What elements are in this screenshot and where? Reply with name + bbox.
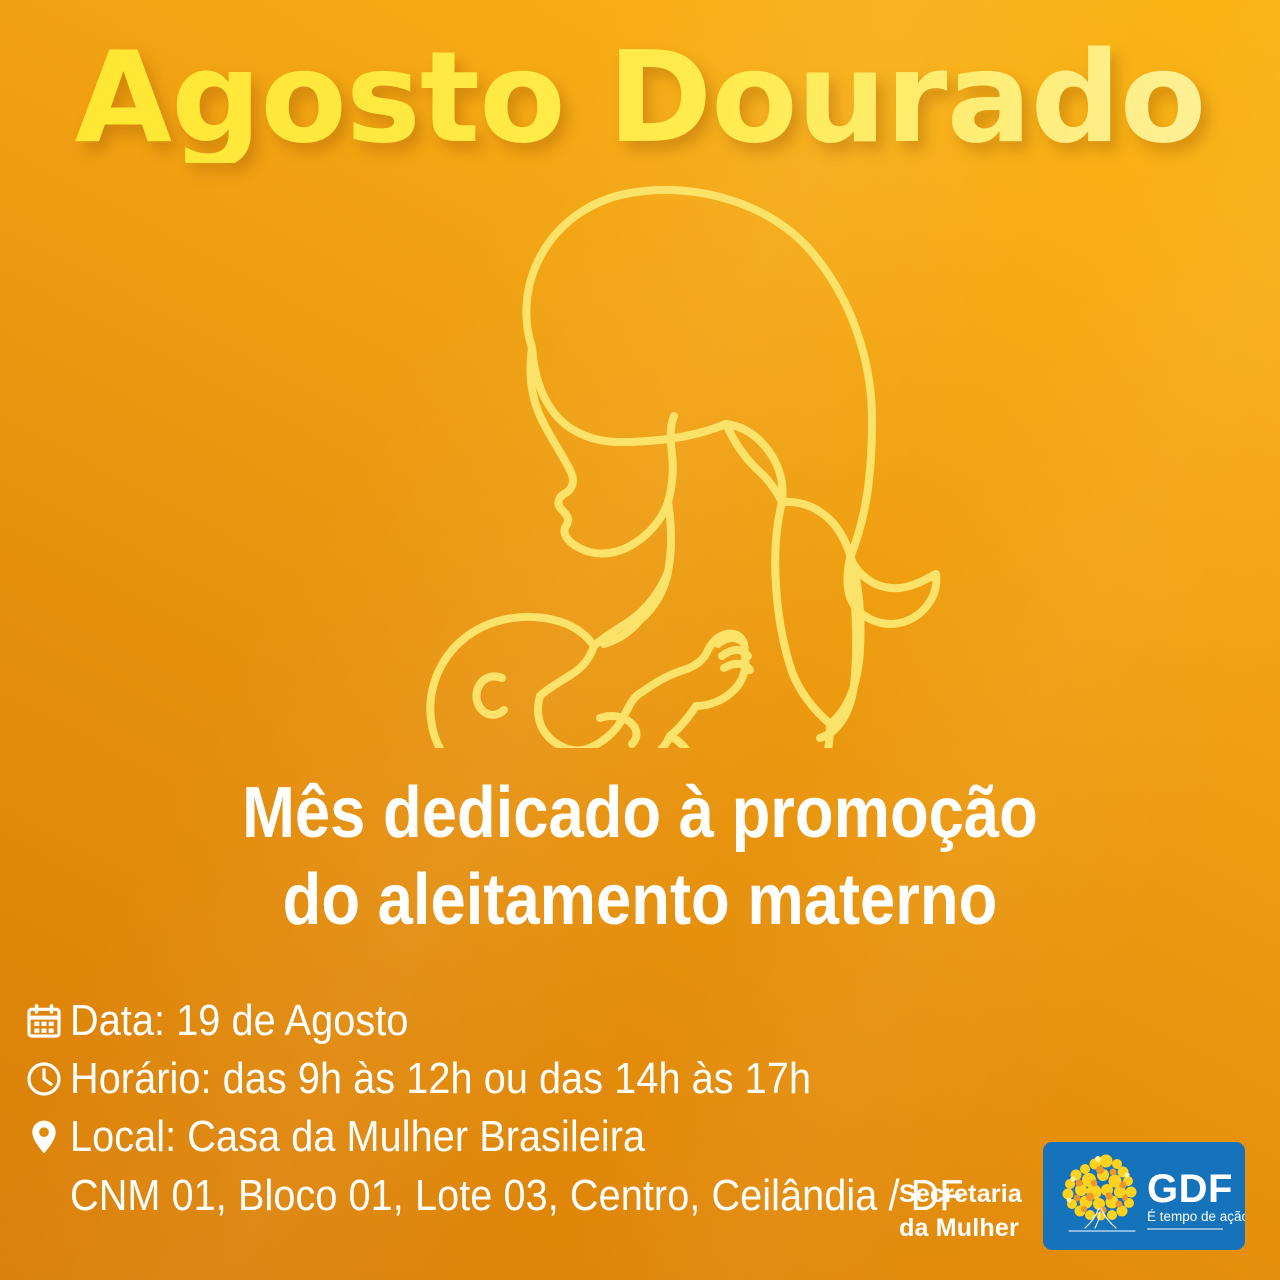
gdf-logo: GDF É tempo de ação.	[1043, 1142, 1245, 1250]
secretaria-line-2: da Mulher	[899, 1212, 1022, 1246]
clock-icon	[24, 1056, 70, 1102]
mother-breastfeeding-baby-line-art	[380, 158, 980, 748]
ipe-tree-icon	[1063, 1155, 1137, 1232]
secretaria-label: Secretaria da Mulher	[899, 1178, 1022, 1245]
subtitle: Mês dedicado à promoção do aleitamento m…	[77, 770, 1203, 944]
detail-place-text: Local: Casa da Mulher Brasileira	[70, 1115, 645, 1159]
detail-time-text: Horário: das 9h às 12h ou das 14h às 17h	[70, 1057, 811, 1101]
gdf-tagline: É tempo de ação.	[1147, 1209, 1245, 1224]
poster-canvas: Agosto Dourado	[0, 0, 1280, 1280]
detail-row-time: Horário: das 9h às 12h ou das 14h às 17h	[24, 1052, 1063, 1106]
detail-row-place: Local: Casa da Mulher Brasileira	[24, 1110, 1063, 1164]
subtitle-line-1: Mês dedicado à promoção	[77, 770, 1203, 857]
calendar-icon	[24, 998, 70, 1044]
detail-address-text: CNM 01, Bloco 01, Lote 03, Centro, Ceilâ…	[70, 1174, 964, 1218]
map-pin-icon	[24, 1114, 70, 1160]
detail-date-text: Data: 19 de Agosto	[70, 999, 408, 1043]
detail-row-date: Data: 19 de Agosto	[24, 994, 1063, 1048]
subtitle-line-2: do aleitamento materno	[77, 857, 1203, 944]
gdf-wordmark: GDF	[1147, 1167, 1233, 1211]
mother-baby-illustration	[380, 158, 980, 748]
secretaria-line-1: Secretaria	[899, 1178, 1022, 1212]
page-title: Agosto Dourado	[0, 34, 1280, 163]
